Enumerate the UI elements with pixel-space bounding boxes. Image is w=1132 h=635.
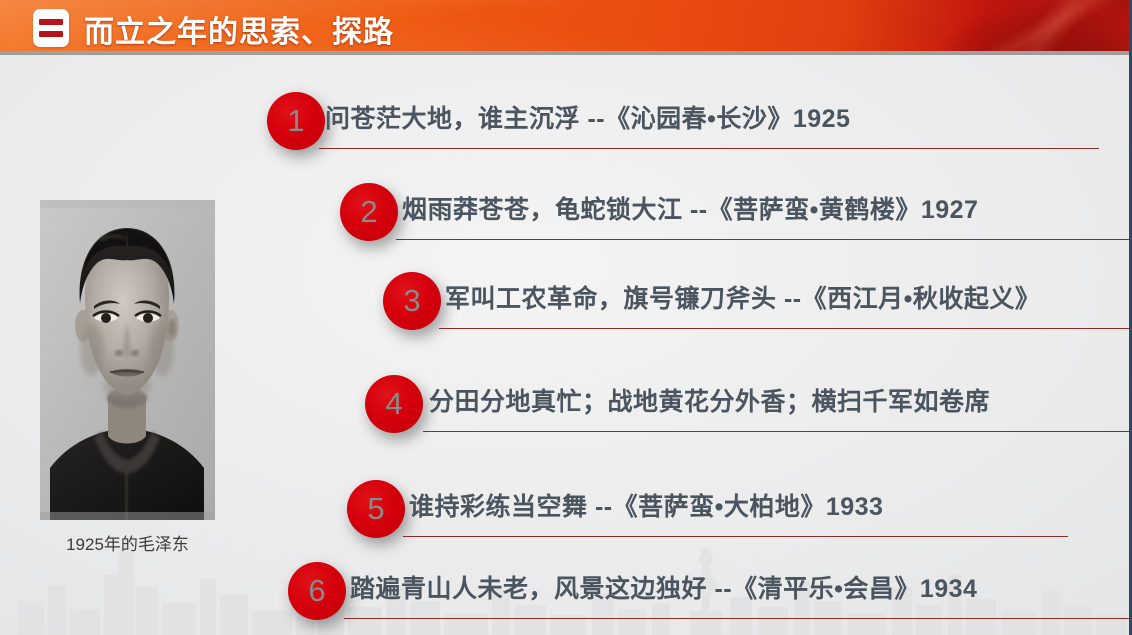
item-underline bbox=[423, 431, 1132, 432]
portrait-caption: 1925年的毛泽东 bbox=[40, 530, 215, 555]
portrait-figure: 1925年的毛泽东 bbox=[40, 200, 215, 520]
item-number: 4 bbox=[365, 375, 423, 433]
header-ribbon-decoration bbox=[822, 0, 1132, 55]
page-title: 而立之年的思索、探路 bbox=[84, 7, 394, 51]
item-number-badge: 5 bbox=[347, 480, 405, 538]
header-ribbon-highlight bbox=[912, 0, 1132, 55]
slide-canvas: 而立之年的思索、探路 bbox=[0, 0, 1132, 635]
numeral-two-bar-top bbox=[39, 19, 63, 25]
item-text: 谁持彩练当空舞 --《菩萨蛮•大柏地》1933 bbox=[409, 487, 883, 523]
item-text: 踏遍青山人未老，风景这边独好 --《清平乐•会昌》1934 bbox=[350, 569, 977, 605]
slide-header: 而立之年的思索、探路 bbox=[0, 0, 1132, 55]
item-number: 3 bbox=[383, 272, 441, 330]
item-underline bbox=[396, 239, 1132, 240]
item-number-badge: 1 bbox=[267, 92, 325, 150]
item-number-badge: 2 bbox=[340, 183, 398, 241]
item-number: 1 bbox=[267, 92, 325, 150]
item-underline bbox=[319, 148, 1099, 149]
item-number: 5 bbox=[347, 480, 405, 538]
section-number-badge bbox=[33, 9, 69, 47]
item-underline bbox=[344, 618, 1132, 619]
numeral-two-bar-bottom bbox=[39, 31, 63, 37]
item-underline bbox=[403, 536, 1068, 537]
item-text: 烟雨莽苍苍，龟蛇锁大江 --《菩萨蛮•黄鹤楼》1927 bbox=[402, 190, 978, 226]
item-number: 2 bbox=[340, 183, 398, 241]
item-text: 分田分地真忙；战地黄花分外香；横扫千军如卷席 bbox=[429, 382, 990, 418]
item-number-badge: 4 bbox=[365, 375, 423, 433]
item-number-badge: 6 bbox=[288, 562, 346, 620]
item-text: 问苍茫大地，谁主沉浮 --《沁园春•长沙》1925 bbox=[325, 99, 850, 135]
item-number-badge: 3 bbox=[383, 272, 441, 330]
item-number: 6 bbox=[288, 562, 346, 620]
header-divider bbox=[0, 51, 1132, 55]
item-underline bbox=[439, 328, 1132, 329]
item-text: 军叫工农革命，旗号镰刀斧头 --《西江月•秋收起义》 bbox=[445, 279, 1040, 315]
portrait-photo bbox=[40, 200, 215, 520]
